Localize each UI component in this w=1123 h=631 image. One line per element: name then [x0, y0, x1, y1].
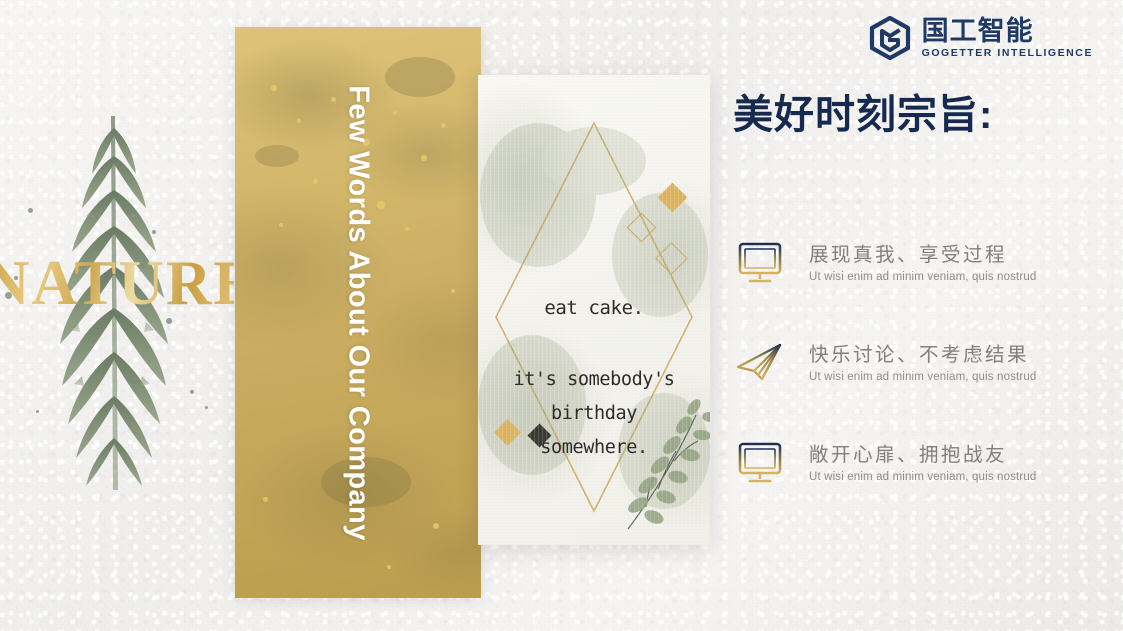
gold-speck: [387, 565, 391, 569]
gold-speck: [433, 523, 439, 529]
brand-logo[interactable]: 国工智能 GOGETTER INTELLIGENCE: [868, 16, 1093, 60]
gold-speck: [421, 155, 427, 161]
feature-text-block: 快乐讨论、不考虑结果 Ut wisi enim ad minim veniam,…: [809, 343, 1093, 382]
feature-item-2[interactable]: 快乐讨论、不考虑结果 Ut wisi enim ad minim veniam,…: [733, 332, 1093, 394]
card-quote-body: it's somebody's birthday somewhere.: [478, 363, 710, 466]
feature-list: 展现真我、享受过程 Ut wisi enim ad minim veniam, …: [733, 232, 1093, 532]
card-quote-line-2: it's somebody's: [478, 363, 710, 397]
wash-blotch: [255, 145, 299, 167]
feature-text-block: 敞开心扉、拥抱战友 Ut wisi enim ad minim veniam, …: [809, 443, 1093, 482]
gold-speck: [405, 227, 409, 231]
nature-artwork: NATURE: [0, 80, 235, 510]
card-quote-line-4: somewhere.: [478, 431, 710, 465]
feature-text-block: 展现真我、享受过程 Ut wisi enim ad minim veniam, …: [809, 243, 1093, 282]
brand-name-en: GOGETTER INTELLIGENCE: [922, 47, 1093, 59]
gold-speck: [451, 289, 455, 293]
wash-blotch: [385, 57, 455, 97]
feature-title: 快乐讨论、不考虑结果: [809, 343, 1093, 367]
gold-speck: [377, 201, 385, 209]
nature-wordmark: NATURE: [0, 252, 234, 315]
card-quote-line-1: eat cake.: [478, 297, 710, 319]
gold-speck: [279, 223, 283, 227]
gold-speck: [331, 97, 336, 102]
page-title: 美好时刻宗旨:: [733, 82, 993, 140]
panel-headline: Few Words About Our Company: [339, 53, 376, 573]
ink-speck: [166, 318, 172, 324]
gogetter-hex-logo-icon: [868, 16, 912, 60]
paper-plane-icon: [733, 341, 787, 385]
card-quote-line-3: birthday: [478, 397, 710, 431]
monitor-icon: [733, 241, 787, 285]
gold-speck: [297, 119, 301, 123]
feature-item-3[interactable]: 敞开心扉、拥抱战友 Ut wisi enim ad minim veniam, …: [733, 432, 1093, 494]
monitor-icon: [733, 441, 787, 485]
feature-subtitle: Ut wisi enim ad minim veniam, quis nostr…: [809, 371, 1093, 383]
gold-speck: [263, 497, 268, 502]
ink-speck: [28, 208, 33, 213]
feature-title: 展现真我、享受过程: [809, 243, 1093, 267]
slide-canvas: NATURE Few Words About Our Company: [0, 0, 1123, 631]
gold-speck: [393, 111, 397, 115]
ink-speck: [205, 406, 208, 409]
feature-subtitle: Ut wisi enim ad minim veniam, quis nostr…: [809, 471, 1093, 483]
ink-speck: [190, 390, 194, 394]
feature-item-1[interactable]: 展现真我、享受过程 Ut wisi enim ad minim veniam, …: [733, 232, 1093, 294]
feature-title: 敞开心扉、拥抱战友: [809, 443, 1093, 467]
gold-speck: [441, 123, 446, 128]
brand-text-block: 国工智能 GOGETTER INTELLIGENCE: [922, 17, 1093, 59]
feature-subtitle: Ut wisi enim ad minim veniam, quis nostr…: [809, 271, 1093, 283]
gold-speck: [313, 179, 318, 184]
ink-speck: [152, 230, 156, 234]
brand-name-cn: 国工智能: [922, 17, 1093, 45]
quote-card: eat cake. it's somebody's birthday somew…: [478, 75, 710, 545]
ink-speck: [36, 410, 39, 413]
gold-side-panel: Few Words About Our Company: [235, 27, 481, 598]
gold-speck: [271, 85, 277, 91]
